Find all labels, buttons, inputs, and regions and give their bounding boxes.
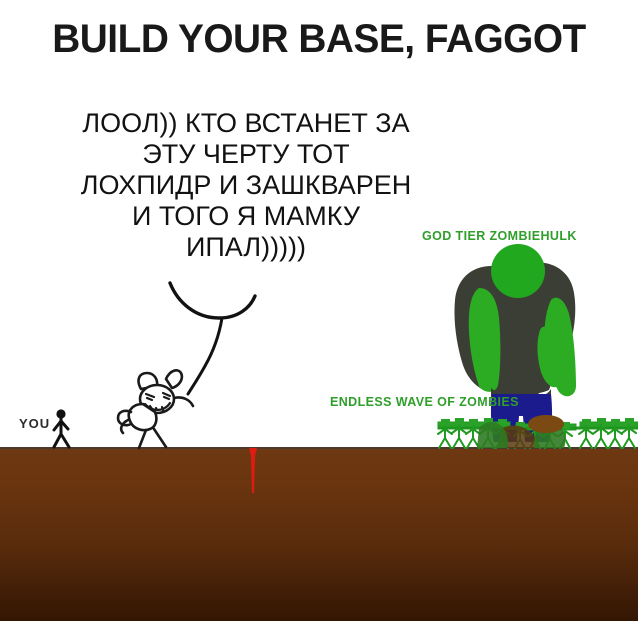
hulk-right-shoulder — [520, 262, 575, 392]
caption-line-4: И ТОГО Я МАМКУ — [36, 201, 456, 232]
meme-image: BUILD YOUR BASE, FAGGOT ЛООЛ)) КТО ВСТАН… — [0, 0, 638, 621]
troll-face — [145, 393, 170, 410]
caption-line-3: ЛОХПИДР И ЗАШКВАРЕН — [36, 170, 456, 201]
troll-character — [118, 370, 193, 448]
zombie-row-back-mid — [516, 424, 576, 430]
speech-bubble-tail — [170, 283, 255, 394]
meme-caption: ЛООЛ)) КТО ВСТАНЕТ ЗА ЭТУ ЧЕРТУ ТОТ ЛОХП… — [36, 108, 456, 263]
god-tier-zombiehulk — [454, 244, 576, 442]
zombie-clump-green — [477, 422, 508, 448]
zombie-clump-green-right — [534, 421, 565, 448]
zombie-figures-right — [579, 418, 636, 448]
you-stick-figure — [54, 409, 69, 447]
caption-line-5: ИПАЛ))))) — [36, 232, 456, 263]
hulk-left-arm — [469, 288, 501, 392]
hulk-right-arm — [545, 298, 576, 397]
ground-dirt — [0, 449, 638, 621]
label-you: YOU — [19, 416, 50, 431]
hulk-left-shoulder — [454, 266, 505, 391]
hulk-torso — [486, 282, 557, 395]
zombie-figures-mid — [514, 422, 572, 448]
zombie-row-line — [438, 427, 638, 429]
zombie-row-back-right — [580, 422, 638, 428]
zombie-clump-shadow — [498, 426, 539, 449]
meme-title: BUILD YOUR BASE, FAGGOT — [10, 16, 629, 62]
hulk-head — [491, 244, 545, 298]
label-endless-wave-of-zombies: ENDLESS WAVE OF ZOMBIES — [330, 395, 519, 409]
zombie-clump-brown — [528, 415, 564, 433]
zombie-crowd — [438, 415, 638, 448]
caption-line-1: ЛООЛ)) КТО ВСТАНЕТ ЗА — [36, 108, 456, 139]
hulk-right-forearm — [537, 327, 558, 388]
label-god-tier-zombiehulk: GOD TIER ZOMBIEHULK — [422, 229, 577, 243]
zombie-figures-left — [438, 418, 509, 448]
zombie-row-back-left — [438, 422, 510, 428]
caption-line-2: ЭТУ ЧЕРТУ ТОТ — [36, 139, 456, 170]
